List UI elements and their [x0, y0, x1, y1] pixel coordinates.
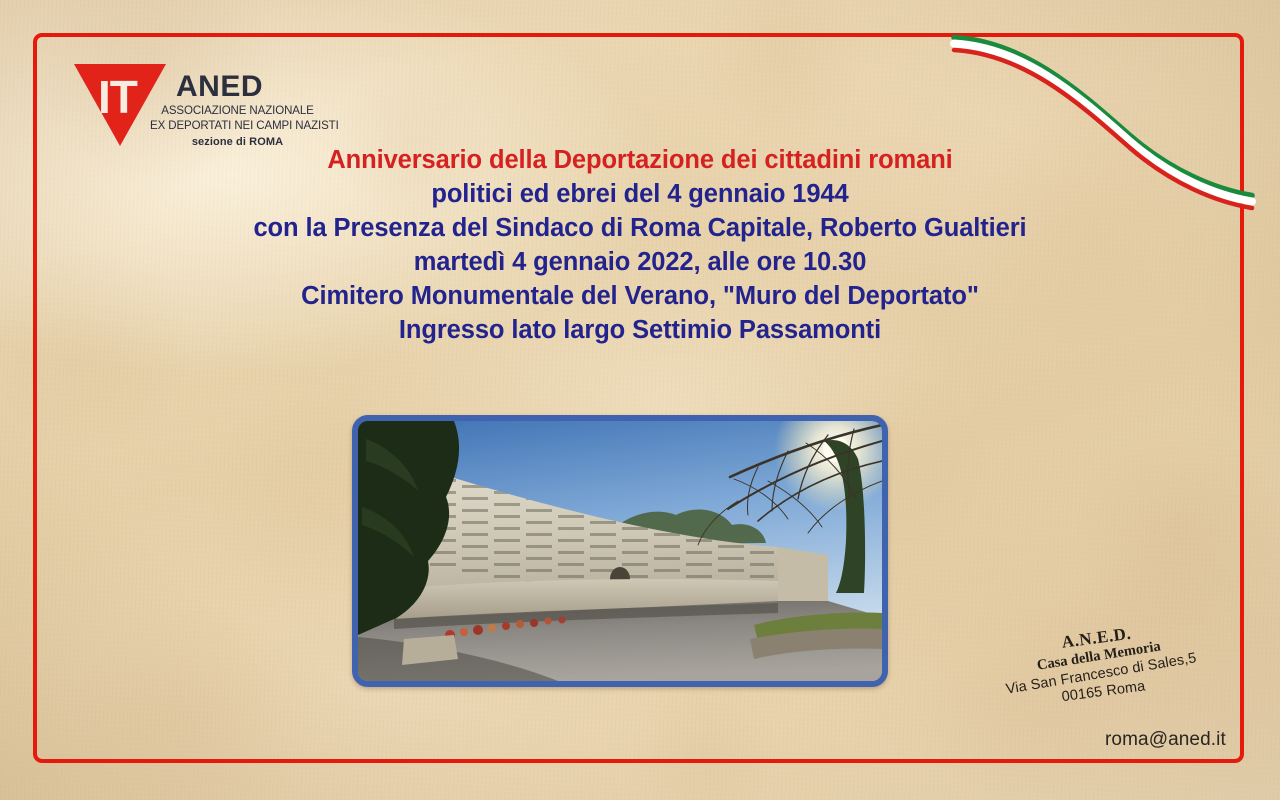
announcement-line-2: politici ed ebrei del 4 gennaio 1944	[0, 177, 1280, 211]
logo-subtitle-line-1: ASSOCIAZIONE NAZIONALE	[150, 104, 325, 119]
memorial-photo-frame	[352, 415, 888, 687]
poster-canvas: IT ANED ASSOCIAZIONE NAZIONALE EX DEPORT…	[0, 0, 1280, 800]
contact-email[interactable]: roma@aned.it	[1105, 729, 1226, 751]
logo-subtitle: ASSOCIAZIONE NAZIONALE EX DEPORTATI NEI …	[150, 104, 325, 148]
announcement-line-3: con la Presenza del Sindaco di Roma Capi…	[0, 211, 1280, 245]
memorial-photo-illustration	[358, 421, 882, 681]
logo-org-name: ANED	[176, 72, 263, 102]
wall-extension	[778, 547, 828, 601]
logo-it-mark: IT	[98, 74, 137, 120]
announcement-line-6: Ingresso lato largo Settimio Passamonti	[0, 313, 1280, 347]
logo-subtitle-line-2: EX DEPORTATI NEI CAMPI NAZISTI	[150, 119, 325, 134]
announcement-text: Anniversario della Deportazione dei citt…	[0, 143, 1280, 347]
announcement-line-1: Anniversario della Deportazione dei citt…	[0, 143, 1280, 177]
announcement-line-5: Cimitero Monumentale del Verano, "Muro d…	[0, 279, 1280, 313]
announcement-line-4: martedì 4 gennaio 2022, alle ore 10.30	[0, 245, 1280, 279]
memorial-photo	[358, 421, 882, 681]
